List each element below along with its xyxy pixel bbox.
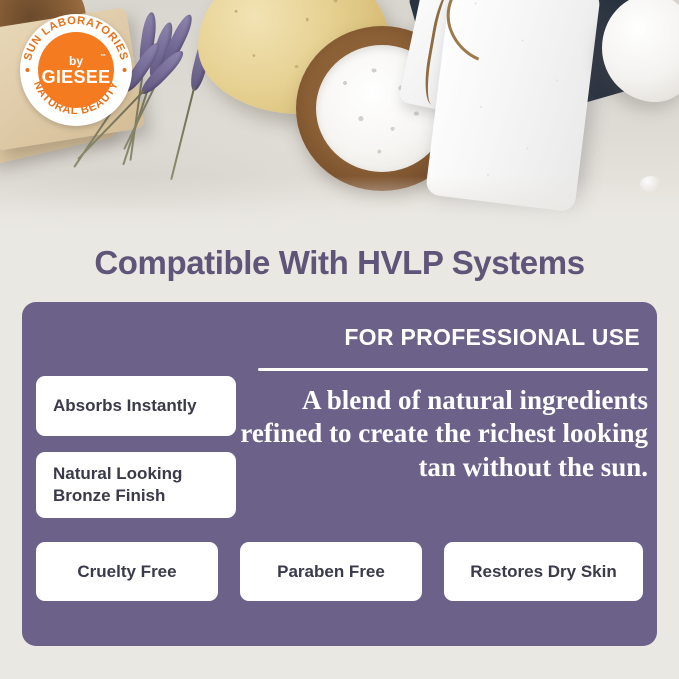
feature-chip-label: Cruelty Free xyxy=(77,561,176,583)
feature-chip-label-line2: Bronze Finish xyxy=(53,485,182,507)
logo-trademark-icon: ™ xyxy=(100,54,106,60)
feature-chip-natural-looking-bronze-finish[interactable]: Natural Looking Bronze Finish xyxy=(36,452,236,518)
logo-dot-left xyxy=(26,68,30,72)
feature-chip-restores-dry-skin[interactable]: Restores Dry Skin xyxy=(444,542,643,601)
feature-chip-label: Natural Looking Bronze Finish xyxy=(53,463,182,507)
logo-core: by GIESEE ™ xyxy=(38,32,114,108)
feature-chip-cruelty-free[interactable]: Cruelty Free xyxy=(36,542,218,601)
feature-chip-absorbs-instantly[interactable]: Absorbs Instantly xyxy=(36,376,236,436)
logo-brand-name: GIESEE xyxy=(42,68,111,86)
panel-divider xyxy=(258,368,648,371)
panel-heading: FOR PROFESSIONAL USE xyxy=(258,324,640,351)
feature-chip-label: Absorbs Instantly xyxy=(53,395,197,417)
feature-chip-paraben-free[interactable]: Paraben Free xyxy=(240,542,422,601)
feature-chip-label: Paraben Free xyxy=(277,561,385,583)
product-feature-card: SUN LABORATORIES NATURAL BEAUTY by GIESE… xyxy=(0,0,679,679)
feature-chip-label-line1: Natural Looking xyxy=(53,463,182,485)
feature-chip-label: Restores Dry Skin xyxy=(470,561,616,583)
page-title: Compatible With HVLP Systems xyxy=(0,244,679,282)
logo-by-label: by xyxy=(69,55,83,67)
brand-logo-badge: SUN LABORATORIES NATURAL BEAUTY by GIESE… xyxy=(20,14,132,126)
logo-dot-right xyxy=(123,68,127,72)
small-pebble xyxy=(640,176,662,192)
panel-description: A blend of natural ingredients refined t… xyxy=(222,384,648,484)
features-panel: FOR PROFESSIONAL USE A blend of natural … xyxy=(22,302,657,646)
